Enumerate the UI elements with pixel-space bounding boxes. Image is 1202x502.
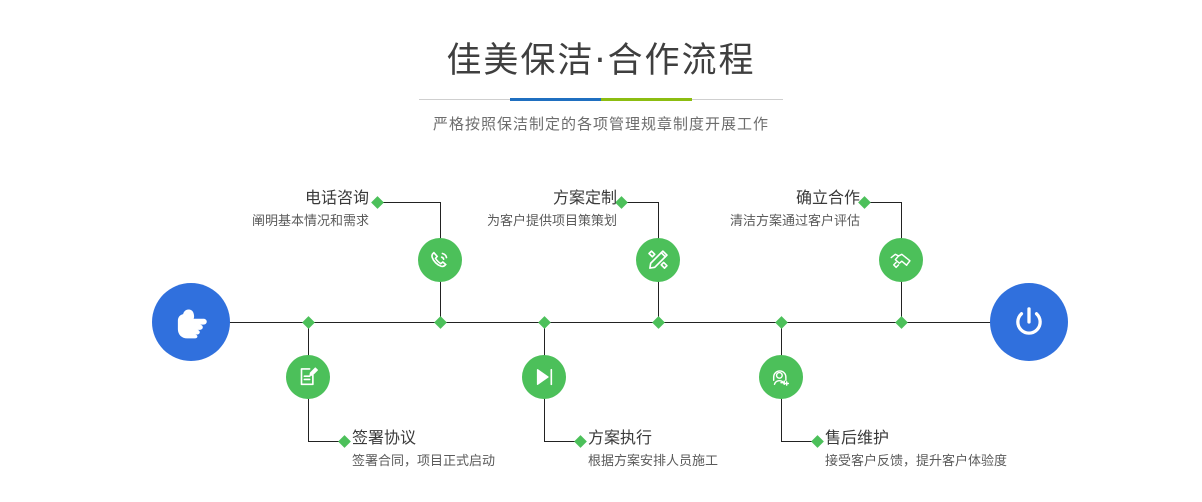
step-label-1: 电话咨询 阐明基本情况和需求 [252,188,369,231]
step-title-1: 电话咨询 [252,188,369,208]
step-title-6: 售后维护 [825,428,1007,448]
timeline-axis [160,322,1042,323]
flow-end-node[interactable] [990,283,1068,361]
phone-call-icon [427,247,453,273]
flow-start-node[interactable] [152,283,230,361]
step-desc-2: 签署合同，项目正式启动 [352,452,495,471]
step-icon-6[interactable] [759,355,803,399]
play-execute-icon [531,364,557,390]
node-marker-step-1-axis [434,316,447,329]
step-desc-1: 阐明基本情况和需求 [252,212,369,231]
step-icon-5[interactable] [879,238,923,282]
step-icon-1[interactable] [418,238,462,282]
node-marker-step-3-label [615,196,628,209]
node-marker-step-1-label [371,196,384,209]
step-desc-3: 为客户提供项目策策划 [487,212,617,231]
step-desc-4: 根据方案安排人员施工 [588,452,718,471]
handshake-icon [888,247,914,273]
step-title-3: 方案定制 [487,188,617,208]
connector-elbow-step-1 [378,202,440,203]
document-edit-icon [295,364,321,390]
node-marker-step-3-axis [652,316,665,329]
step-label-5: 确立合作 清洁方案通过客户评估 [730,188,860,231]
power-icon [1008,301,1050,343]
step-label-2: 签署协议 签署合同，项目正式启动 [352,428,495,471]
pencil-ruler-icon [645,247,671,273]
step-title-2: 签署协议 [352,428,495,448]
process-flow-diagram: 电话咨询 阐明基本情况和需求 签署协议 签署合同，项目正式启动 [0,0,1202,502]
step-title-5: 确立合作 [730,188,860,208]
step-icon-3[interactable] [636,238,680,282]
node-marker-step-2-axis [302,316,315,329]
step-label-3: 方案定制 为客户提供项目策策划 [487,188,617,231]
customer-service-icon [768,364,794,390]
step-title-4: 方案执行 [588,428,718,448]
step-icon-4[interactable] [522,355,566,399]
step-icon-2[interactable] [286,355,330,399]
pointing-hand-icon [170,301,212,343]
node-marker-step-2-label [338,435,351,448]
node-marker-step-4-label [574,435,587,448]
node-marker-step-4-axis [538,316,551,329]
node-marker-step-5-axis [895,316,908,329]
step-label-6: 售后维护 接受客户反馈，提升客户体验度 [825,428,1007,471]
step-desc-5: 清洁方案通过客户评估 [730,212,860,231]
flowchart-page: 佳美保洁·合作流程 严格按照保洁制定的各项管理规章制度开展工作 [0,0,1202,502]
node-marker-step-5-label [858,196,871,209]
node-marker-step-6-label [811,435,824,448]
step-desc-6: 接受客户反馈，提升客户体验度 [825,452,1007,471]
step-label-4: 方案执行 根据方案安排人员施工 [588,428,718,471]
node-marker-step-6-axis [775,316,788,329]
